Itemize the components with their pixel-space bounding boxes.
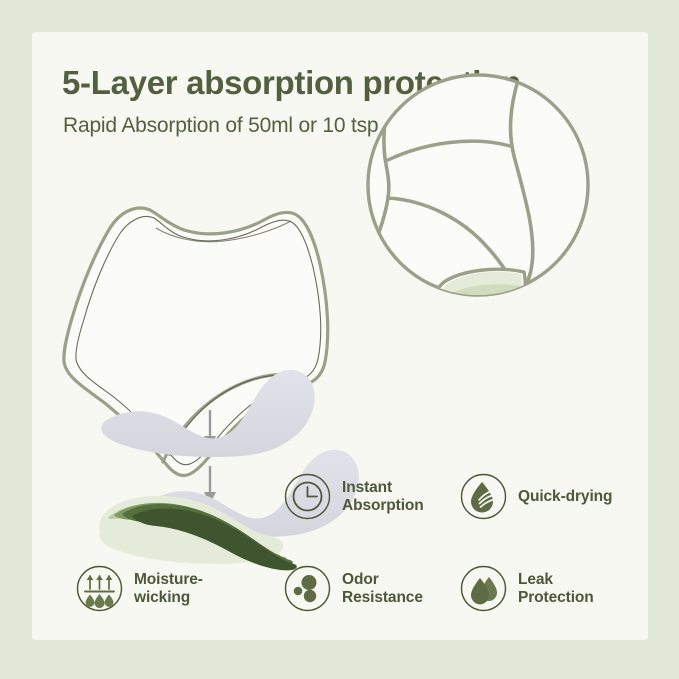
underwear-drawing	[64, 208, 328, 476]
droplet-wind-icon	[460, 473, 507, 520]
gusset-detail-circle	[358, 75, 588, 400]
molecule-dots-icon	[284, 565, 331, 612]
feature-quick-drying: Quick-drying	[460, 473, 612, 520]
feature-label: Odor Resistance	[342, 571, 423, 607]
clock-icon	[284, 473, 331, 520]
feature-odor-resistance: Odor Resistance	[284, 565, 423, 612]
feature-label: Leak Protection	[518, 571, 594, 607]
double-droplet-icon	[460, 565, 507, 612]
feature-instant-absorption: Instant Absorption	[284, 473, 424, 520]
page-title: 5-Layer absorption protection	[62, 64, 521, 102]
feature-moisture-wicking: Moisture- wicking	[76, 565, 203, 612]
page-subtitle: Rapid Absorption of 50ml or 10 tsp	[63, 114, 378, 138]
pad-layer-top	[101, 370, 315, 457]
feature-leak-protection: Leak Protection	[460, 565, 594, 612]
infographic-canvas: 5-Layer absorption protection Rapid Abso…	[0, 0, 679, 679]
arrows-droplets-icon	[76, 565, 123, 612]
flow-arrows	[204, 410, 216, 504]
feature-label: Quick-drying	[518, 488, 612, 506]
feature-label: Moisture- wicking	[134, 571, 203, 607]
content-card: 5-Layer absorption protection Rapid Abso…	[32, 32, 648, 640]
feature-label: Instant Absorption	[342, 479, 424, 515]
